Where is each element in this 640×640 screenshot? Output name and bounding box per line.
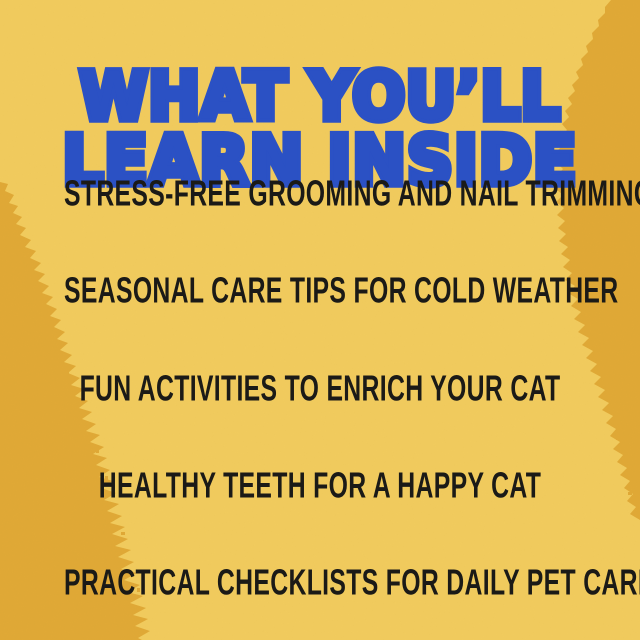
poster-canvas: WHAT YOU’LL LEARN INSIDE STRESS-FREE GRO…	[0, 0, 640, 640]
list-item: HEALTHY TEETH FOR A HAPPY CAT	[64, 467, 576, 503]
list-item: STRESS-FREE GROOMING AND NAIL TRIMMING	[64, 176, 576, 212]
learn-inside-list: STRESS-FREE GROOMING AND NAIL TRIMMING S…	[0, 178, 640, 598]
list-item: SEASONAL CARE TIPS FOR COLD WEATHER	[64, 273, 576, 309]
list-item: PRACTICAL CHECKLISTS FOR DAILY PET CARE	[64, 565, 576, 601]
headline-line-1: WHAT YOU’LL	[0, 64, 640, 129]
list-item: FUN ACTIVITIES TO ENRICH YOUR CAT	[64, 370, 576, 406]
